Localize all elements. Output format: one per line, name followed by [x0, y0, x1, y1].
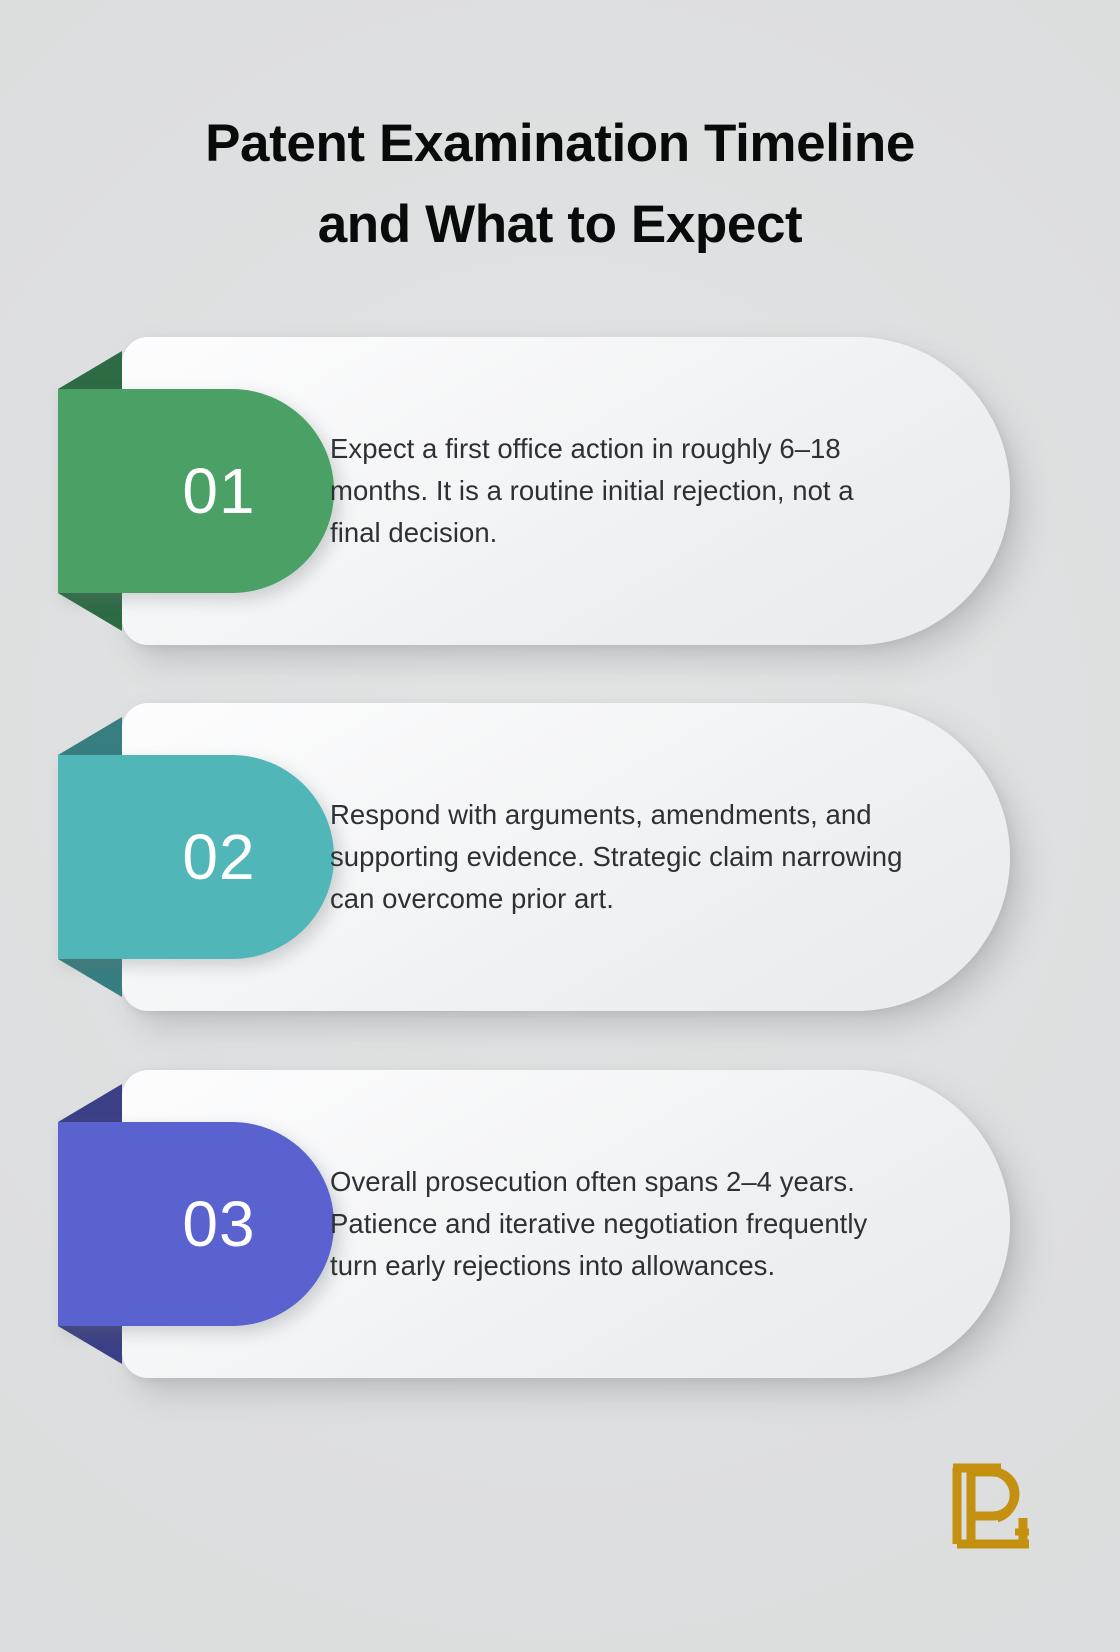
- step-card-03: 03 Overall prosecution often spans 2–4 y…: [122, 1070, 1010, 1378]
- step-number-badge-02: 02: [58, 755, 334, 959]
- step-number-badge-01: 01: [58, 389, 334, 593]
- step-number-label: 03: [122, 1122, 334, 1326]
- ribbon-fold-bottom-icon: [58, 959, 122, 997]
- step-description: Expect a first office action in roughly …: [330, 337, 905, 645]
- step-card-01: 01 Expect a first office action in rough…: [122, 337, 1010, 645]
- step-description: Respond with arguments, amendments, and …: [330, 703, 905, 1011]
- ribbon-fold-bottom-icon: [58, 1326, 122, 1364]
- page-title: Patent Examination Timeline and What to …: [0, 104, 1120, 265]
- page-title-line-2: and What to Expect: [70, 185, 1050, 266]
- step-number-label: 02: [122, 755, 334, 959]
- page-title-line-1: Patent Examination Timeline: [70, 104, 1050, 185]
- ribbon-fold-top-icon: [58, 1084, 122, 1122]
- step-number-badge-03: 03: [58, 1122, 334, 1326]
- step-card-02: 02 Respond with arguments, amendments, a…: [122, 703, 1010, 1011]
- pl-monogram-logo: [931, 1444, 1053, 1566]
- ribbon-fold-bottom-icon: [58, 593, 122, 631]
- ribbon-fold-top-icon: [58, 351, 122, 389]
- ribbon-fold-top-icon: [58, 717, 122, 755]
- step-number-label: 01: [122, 389, 334, 593]
- step-description: Overall prosecution often spans 2–4 year…: [330, 1070, 905, 1378]
